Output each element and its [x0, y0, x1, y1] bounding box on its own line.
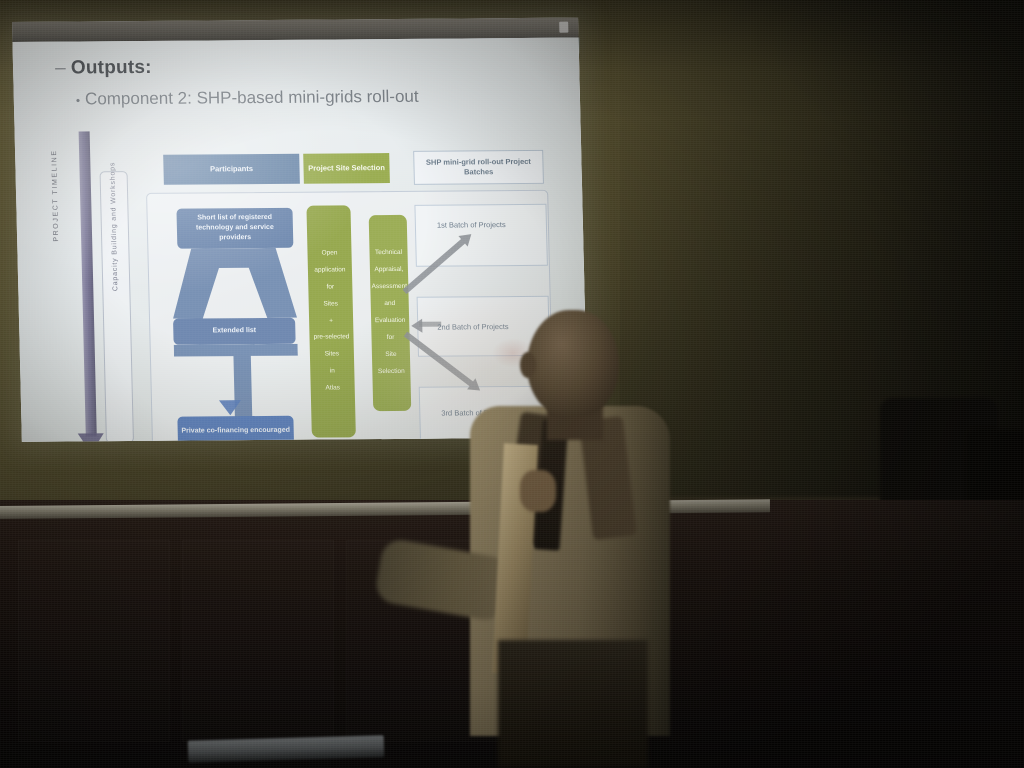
- header-participants: Participants: [163, 154, 300, 185]
- slide-subtitle: •Component 2: SHP-based mini-grids roll-…: [76, 87, 419, 110]
- box-technical-appraisal-label: TechnicalAppraisal,AssessmentandEvaluati…: [371, 245, 410, 380]
- wainscot-panel: [18, 540, 170, 742]
- project-timeline-arrow-shaft: [79, 131, 97, 436]
- slide-title: –Outputs:: [55, 57, 152, 80]
- presenter-head: [527, 310, 619, 416]
- batch-row: [414, 204, 547, 267]
- projection-screen: –Outputs: •Component 2: SHP-based mini-g…: [12, 18, 588, 442]
- wainscot-panel: [182, 540, 334, 742]
- box-open-application-sites: OpenapplicationforSites+pre-selectedSite…: [306, 205, 355, 437]
- title-bullet: –: [55, 58, 66, 79]
- box-private-cofinancing: Private co-financing encouraged: [177, 416, 294, 442]
- project-timeline-arrow-head: [78, 433, 104, 442]
- slide-content: –Outputs: •Component 2: SHP-based mini-g…: [12, 38, 587, 442]
- header-project-batches: SHP mini-grid roll-out Project Batches: [413, 150, 544, 185]
- subtitle-bullet: •: [76, 93, 81, 107]
- project-timeline-label: PROJECT TIMELINE: [50, 122, 60, 242]
- participants-down-arrow: [219, 400, 241, 415]
- box-technical-appraisal: TechnicalAppraisal,AssessmentandEvaluati…: [369, 215, 412, 411]
- header-project-site-selection: Project Site Selection: [303, 153, 390, 184]
- window-control-icon[interactable]: [559, 22, 568, 33]
- presenter-ear: [520, 352, 536, 378]
- box-extended-list: Extended list: [173, 318, 296, 345]
- label-first-batch: 1st Batch of Projects: [437, 220, 506, 230]
- box-open-application-label: OpenapplicationforSites+pre-selectedSite…: [311, 245, 350, 397]
- slide-title-text: Outputs:: [71, 57, 152, 79]
- label-second-batch: 2nd Batch of Projects: [437, 322, 509, 332]
- slide-subtitle-text: Component 2: SHP-based mini-grids roll-o…: [85, 87, 419, 109]
- presenter-hand: [520, 470, 556, 512]
- presenter-lower-body: [498, 640, 648, 768]
- box-short-list-registered-providers: Short list of registered technology and …: [176, 208, 293, 249]
- room-photo-scene: –Outputs: •Component 2: SHP-based mini-g…: [0, 0, 1024, 768]
